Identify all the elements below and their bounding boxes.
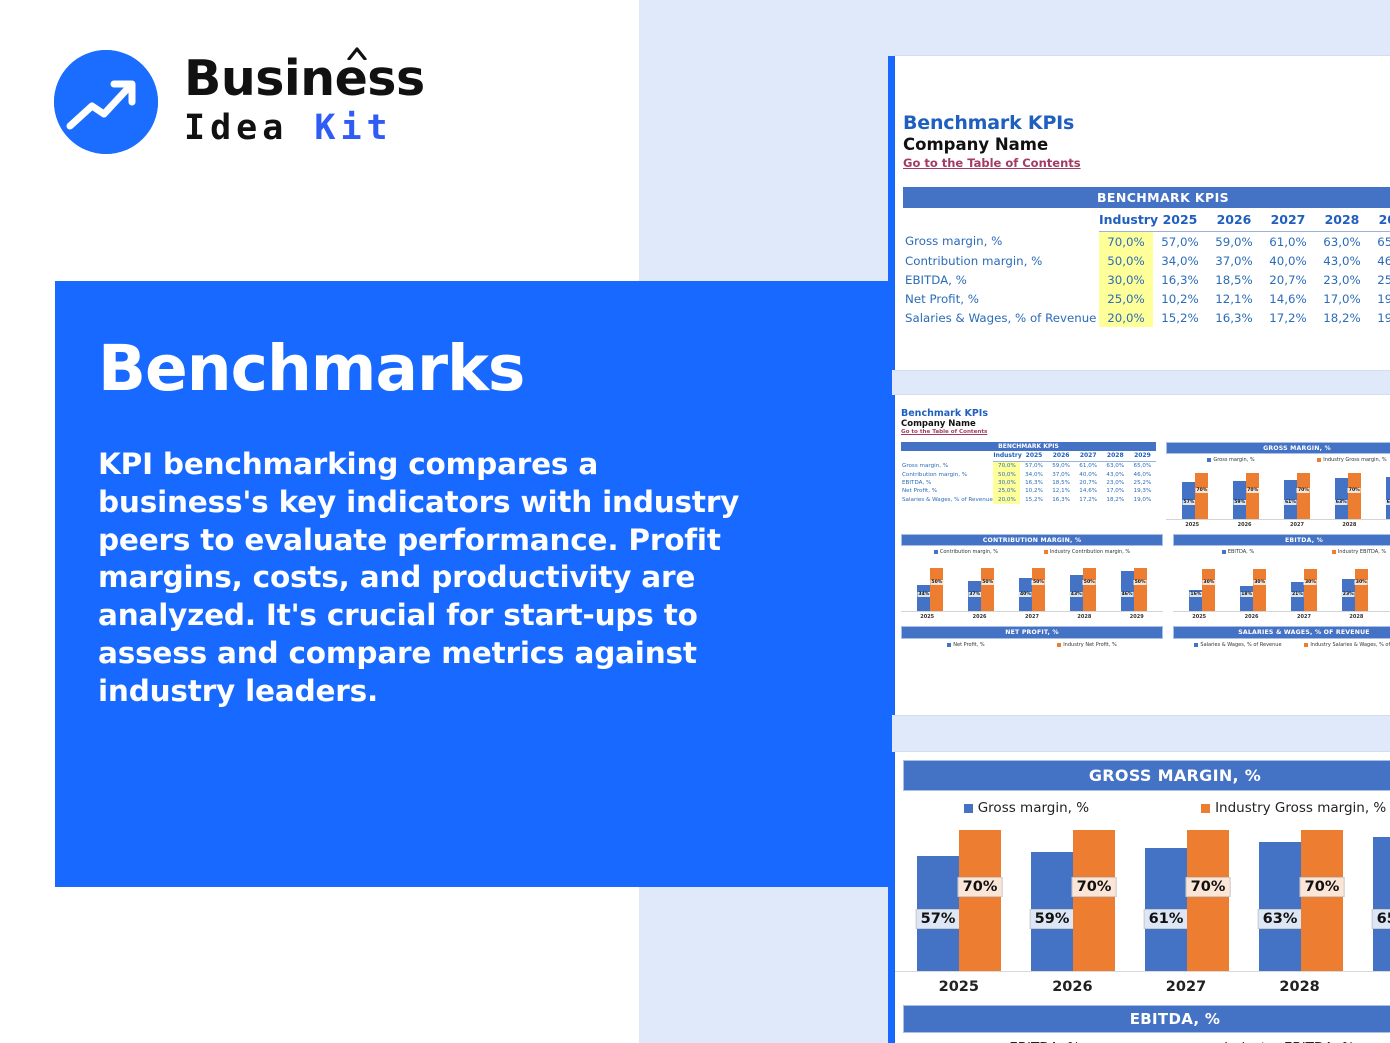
bar-company: 59% — [1233, 481, 1246, 519]
bar-group: 37%50% — [968, 559, 994, 611]
bar-company: 57% — [1182, 482, 1195, 519]
bar-group: 57%70% — [1182, 467, 1208, 519]
mini-col-header-2026: 2026 — [1048, 451, 1075, 462]
legend-swatch-orange — [1332, 550, 1336, 554]
bar-value-label: 61% — [1284, 500, 1297, 505]
bar-value-label: 50% — [930, 580, 943, 585]
cell-2028: 43,0% — [1102, 470, 1129, 478]
x-tick: 2027 — [1025, 614, 1039, 620]
cell-2028: 23,0% — [1315, 270, 1369, 289]
mini-chart-x-axis: 2025 2026 2027 2028 2029 — [901, 611, 1163, 620]
bar-group: 21%30% — [1291, 559, 1317, 611]
bar-value-label: 65% — [1386, 500, 1390, 505]
legend-item-industry: Industry Net Profit, % — [1057, 642, 1117, 648]
mini-chart-x-axis: 2025 2026 2027 2028 2029 — [1166, 519, 1390, 528]
bar-value-label: 59% — [1233, 500, 1246, 505]
legend-label: Industry Gross margin, % — [1323, 457, 1386, 463]
legend-label: Industry Gross margin, % — [1215, 800, 1386, 816]
x-tick: 2025 — [920, 614, 934, 620]
bar-value-label: 70% — [1297, 488, 1310, 493]
legend-swatch-blue — [1222, 550, 1226, 554]
cell-2029: 19,0% — [1369, 308, 1390, 327]
bar-value-label: 40% — [1019, 592, 1032, 597]
bar-industry: 70% — [1297, 473, 1310, 519]
mini-chart-ebitda[interactable]: EBITDA, % EBITDA, % Industry EBITDA, % 1… — [1173, 534, 1390, 620]
row-label: Gross margin, % — [901, 462, 993, 471]
mini-chart-net-profit[interactable]: NET PROFIT, % Net Profit, % Industry Net… — [901, 626, 1163, 647]
bar-value-label: 70% — [1348, 488, 1361, 493]
bar-company: 43% — [1070, 575, 1083, 611]
x-tick: 2028 — [1342, 522, 1356, 528]
kpi-table-banner-label: BENCHMARK KPIS — [903, 187, 1390, 209]
x-tick: 2029 — [1371, 979, 1390, 995]
x-tick: 2027 — [1290, 522, 1304, 528]
cell-2025: 34,0% — [1153, 251, 1207, 270]
slide-canvas: Business Idea Kit Benchmarks KPI benchma… — [0, 0, 1390, 1043]
legend-label: Industry Salaries & Wages, % of Revenue — [1310, 642, 1390, 648]
mini-col-header-2027: 2027 — [1075, 451, 1102, 462]
col-header-2028: 2028 — [1315, 209, 1369, 232]
cell-2029: 19,0% — [1129, 496, 1156, 504]
mini-table-header-row: Industry 2025 2026 2027 2028 2029 — [901, 451, 1156, 462]
legend-label: Net Profit, % — [953, 642, 984, 648]
mini-chart-title: NET PROFIT, % — [901, 626, 1163, 638]
legend-item-industry: Industry Gross margin, % — [1317, 457, 1386, 463]
brand-name-primary: Business — [184, 54, 425, 103]
cell-industry: 50,0% — [993, 470, 1020, 478]
mini-chart-plot: 34%50% 37%50% 40%50% 43%50% 46%50% — [901, 555, 1163, 611]
x-tick: 2029 — [1130, 614, 1144, 620]
cell-2029: 19,3% — [1369, 289, 1390, 308]
bar-company: 46% — [1121, 571, 1134, 611]
cell-2025: 15,2% — [1153, 308, 1207, 327]
cell-2026: 16,3% — [1207, 308, 1261, 327]
cell-industry: 25,0% — [993, 487, 1020, 495]
cell-industry: 30,0% — [1099, 270, 1153, 289]
bar-value-label: 50% — [1032, 580, 1045, 585]
legend-item-company: Net Profit, % — [947, 642, 984, 648]
bar-company: 21% — [1291, 582, 1304, 611]
large-chart-x-axis: 2025 2026 2027 2028 2029 — [895, 971, 1390, 995]
sheet-subtitle: Company Name — [903, 135, 1390, 154]
bar-company: 65% — [1386, 477, 1390, 519]
legend-swatch-orange — [1044, 550, 1048, 554]
cell-2027: 40,0% — [1075, 470, 1102, 478]
bar-value-label: 70% — [1246, 488, 1259, 493]
cell-2028: 18,2% — [1102, 496, 1129, 504]
cell-2029: 46,0% — [1129, 470, 1156, 478]
bar-company: 16% — [1189, 590, 1202, 612]
bar-group: 43%50% — [1070, 559, 1096, 611]
cell-2025: 57,0% — [1020, 462, 1047, 471]
brand-name-idea: Idea — [184, 108, 288, 148]
growth-arrow-icon — [54, 50, 158, 154]
bar-group: 34%50% — [917, 559, 943, 611]
bar-value-label: 70% — [1072, 877, 1117, 897]
sheet-title: Benchmark KPIs — [903, 112, 1390, 134]
row-label: Net Profit, % — [903, 289, 1099, 308]
kpi-table-header-row: Industry 2025 2026 2027 2028 2029 — [903, 209, 1390, 232]
legend-item-company: Salaries & Wages, % of Revenue — [1194, 642, 1281, 648]
bar-value-label: 30% — [1253, 580, 1266, 585]
bar-group: 61% 70% — [1145, 824, 1229, 971]
legend-item-company: Gross margin, % — [1207, 457, 1254, 463]
cell-2026: 37,0% — [1207, 251, 1261, 270]
cell-2025: 16,3% — [1020, 479, 1047, 487]
mini-col-header-2028: 2028 — [1102, 451, 1129, 462]
bar-company: 63% — [1335, 478, 1348, 519]
large-chart-legend-ebitda: EBITDA, % Industry EBITDA, % — [895, 1033, 1390, 1043]
mini-col-header-industry: Industry — [993, 451, 1020, 462]
cell-2028: 18,2% — [1315, 308, 1369, 327]
row-label: Contribution margin, % — [901, 470, 993, 478]
mini-chart-legend: Salaries & Wages, % of Revenue Industry … — [1173, 639, 1390, 648]
table-row[interactable]: Net Profit, % 25,0% 10,2% 12,1% 14,6% 17… — [901, 487, 1156, 495]
brand-name-primary-text: Business — [184, 50, 425, 107]
x-tick: 2026 — [973, 614, 987, 620]
bar-value-label: 65% — [1372, 909, 1390, 929]
col-header-blank — [903, 209, 1099, 232]
cell-2029: 65,0% — [1369, 232, 1390, 252]
mini-table-banner: BENCHMARK KPIS — [901, 442, 1156, 451]
mini-col-header-2029: 2029 — [1129, 451, 1156, 462]
mini-sheet-subtitle: Company Name — [901, 419, 1390, 429]
bar-company: 61% — [1145, 848, 1187, 971]
cell-industry: 20,0% — [1099, 308, 1153, 327]
legend-swatch-orange — [1304, 643, 1308, 647]
mini-chart-contribution-margin[interactable]: CONTRIBUTION MARGIN, % Contribution marg… — [901, 534, 1163, 620]
cell-2026: 59,0% — [1207, 232, 1261, 252]
cell-industry: 20,0% — [993, 496, 1020, 504]
legend-label: Contribution margin, % — [940, 549, 998, 555]
x-tick: 2026 — [1238, 522, 1252, 528]
legend-label: Industry Net Profit, % — [1063, 642, 1117, 648]
page-title: Benchmarks — [98, 337, 832, 400]
cell-2026: 12,1% — [1207, 289, 1261, 308]
bar-group: 18%30% — [1240, 559, 1266, 611]
cell-2028: 23,0% — [1102, 479, 1129, 487]
spreadsheet-panel-dashboard[interactable]: Benchmark KPIs Company Name Go to the Ta… — [895, 395, 1390, 715]
large-chart-title-ebitda: EBITDA, % — [903, 1005, 1390, 1033]
bar-company: 65% — [1373, 837, 1390, 971]
cell-2026: 59,0% — [1048, 462, 1075, 471]
mini-table-of-contents-link[interactable]: Go to the Table of Contents — [901, 429, 1390, 435]
cell-2029: 25,2% — [1129, 479, 1156, 487]
cell-2029: 46,0% — [1369, 251, 1390, 270]
brand-name-secondary: Idea Kit — [184, 107, 425, 151]
row-label: Gross margin, % — [903, 232, 1099, 252]
bar-group: 63% 70% — [1259, 824, 1343, 971]
cell-2025: 57,0% — [1153, 232, 1207, 252]
table-row[interactable]: Gross margin, % 70,0% 57,0% 59,0% 61,0% … — [903, 232, 1390, 252]
x-tick: 2026 — [1245, 614, 1259, 620]
legend-item-industry: Industry Contribution margin, % — [1044, 549, 1130, 555]
cell-2026: 16,3% — [1048, 496, 1075, 504]
cell-industry: 50,0% — [1099, 251, 1153, 270]
large-chart-plot: 57% 70% 59% 70% 61% 70% 63% 70% 65% 70% — [895, 816, 1390, 971]
bar-industry: 50% — [981, 568, 994, 612]
large-chart-legend: Gross margin, % Industry Gross margin, % — [895, 791, 1390, 816]
bar-group: 40%50% — [1019, 559, 1045, 611]
legend-label: Industry Contribution margin, % — [1050, 549, 1130, 555]
bar-value-label: 23% — [1342, 592, 1355, 597]
bar-value-label: 43% — [1070, 592, 1083, 597]
table-row[interactable]: Net Profit, % 25,0% 10,2% 12,1% 14,6% 17… — [903, 289, 1390, 308]
legend-item-company: Gross margin, % — [964, 800, 1089, 816]
legend-item-company: EBITDA, % — [1222, 549, 1254, 555]
bar-group: 16%30% — [1189, 559, 1215, 611]
bar-value-label: 57% — [1182, 500, 1195, 505]
cell-2028: 43,0% — [1315, 251, 1369, 270]
mini-chart-plot: 57%70% 59%70% 61%70% 63%70% 65%70% — [1166, 463, 1390, 519]
brand-logo: Business Idea Kit — [54, 50, 425, 154]
hero-description: KPI benchmarking compares a business's k… — [98, 446, 778, 710]
mini-chart-title: CONTRIBUTION MARGIN, % — [901, 534, 1163, 546]
cell-2026: 12,1% — [1048, 487, 1075, 495]
table-row[interactable]: EBITDA, % 30,0% 16,3% 18,5% 20,7% 23,0% … — [903, 270, 1390, 289]
bar-group: 63%70% — [1335, 467, 1361, 519]
bar-company: 40% — [1019, 578, 1032, 611]
bar-industry: 70% — [1073, 830, 1115, 971]
bar-company: 18% — [1240, 586, 1253, 611]
cell-2026: 37,0% — [1048, 470, 1075, 478]
cell-2028: 17,0% — [1315, 289, 1369, 308]
bar-industry: 50% — [1083, 568, 1096, 612]
table-row[interactable]: Salaries & Wages, % of Revenue 20,0% 15,… — [903, 308, 1390, 327]
cell-industry: 30,0% — [993, 479, 1020, 487]
spreadsheet-panel-kpi-table[interactable]: Benchmark KPIs Company Name Go to the Ta… — [895, 56, 1390, 370]
x-tick: 2025 — [1192, 614, 1206, 620]
x-tick: 2028 — [1258, 979, 1342, 995]
bar-value-label: 30% — [1202, 580, 1215, 585]
x-tick: 2026 — [1031, 979, 1115, 995]
legend-swatch-blue — [964, 804, 973, 813]
bar-industry: 50% — [930, 568, 943, 612]
cell-2025: 10,2% — [1020, 487, 1047, 495]
bar-group: 65% 70% — [1373, 824, 1390, 971]
bar-company: 23% — [1342, 579, 1355, 612]
cell-2025: 10,2% — [1153, 289, 1207, 308]
bar-group: 59%70% — [1233, 467, 1259, 519]
bar-industry: 50% — [1134, 568, 1147, 612]
col-header-2025: 2025 — [1153, 209, 1207, 232]
legend-swatch-blue — [947, 643, 951, 647]
bar-industry: 70% — [1246, 473, 1259, 519]
bar-value-label: 16% — [1189, 592, 1202, 597]
bar-value-label: 30% — [1355, 580, 1368, 585]
cell-2027: 40,0% — [1261, 251, 1315, 270]
cell-industry: 70,0% — [1099, 232, 1153, 252]
bar-value-label: 63% — [1335, 500, 1348, 505]
circumflex-accent-icon — [347, 47, 367, 60]
x-tick: 2025 — [917, 979, 1001, 995]
bar-value-label: 57% — [916, 909, 961, 929]
legend-item-company: Contribution margin, % — [934, 549, 998, 555]
mini-chart-title: EBITDA, % — [1173, 534, 1390, 546]
col-header-2026: 2026 — [1207, 209, 1261, 232]
legend-swatch-blue — [1194, 643, 1198, 647]
bar-value-label: 70% — [1300, 877, 1345, 897]
panel-1-edge-tab — [888, 56, 895, 370]
cell-2029: 65,0% — [1129, 462, 1156, 471]
bar-industry: 70% — [1348, 473, 1361, 519]
bar-company: 57% — [917, 856, 959, 971]
legend-item-industry: Industry EBITDA, % — [1332, 549, 1386, 555]
legend-label: Gross margin, % — [1213, 457, 1254, 463]
bar-value-label: 18% — [1240, 592, 1253, 597]
cell-2027: 61,0% — [1075, 462, 1102, 471]
legend-swatch-blue — [1207, 458, 1211, 462]
table-row[interactable]: EBITDA, % 30,0% 16,3% 18,5% 20,7% 23,0% … — [901, 479, 1156, 487]
legend-label: Gross margin, % — [978, 800, 1089, 816]
mini-chart-legend: EBITDA, % Industry EBITDA, % — [1173, 546, 1390, 555]
mini-kpi-table[interactable]: BENCHMARK KPIS Industry 2025 2026 2027 2… — [901, 442, 1156, 504]
row-label: Net Profit, % — [901, 487, 993, 495]
row-label: Salaries & Wages, % of Revenue — [903, 308, 1099, 327]
bar-group: 23%30% — [1342, 559, 1368, 611]
bar-value-label: 63% — [1258, 909, 1303, 929]
mini-chart-plot: 16%30% 18%30% 21%30% 23%30% 25%30% — [1173, 555, 1390, 611]
bar-value-label: 70% — [958, 877, 1003, 897]
mini-col-header-2025: 2025 — [1020, 451, 1047, 462]
row-label: EBITDA, % — [901, 479, 993, 487]
bar-company: 34% — [917, 585, 930, 611]
bar-group: 46%50% — [1121, 559, 1147, 611]
bar-value-label: 34% — [917, 592, 930, 597]
bar-group: 61%70% — [1284, 467, 1310, 519]
legend-swatch-blue — [934, 550, 938, 554]
mini-col-header-blank — [901, 451, 993, 462]
panel-2-edge-tab — [888, 395, 895, 715]
cell-2027: 17,2% — [1261, 308, 1315, 327]
hero-panel: Benchmarks KPI benchmarking compares a b… — [55, 281, 892, 887]
bar-company: 59% — [1031, 852, 1073, 971]
bar-group: 57% 70% — [917, 824, 1001, 971]
bar-value-label: 70% — [1195, 488, 1208, 493]
bar-value-label: 37% — [968, 592, 981, 597]
x-tick: 2025 — [1185, 522, 1199, 528]
kpi-table[interactable]: BENCHMARK KPIS Industry 2025 2026 2027 2… — [903, 187, 1390, 327]
cell-2026: 18,5% — [1048, 479, 1075, 487]
cell-2027: 20,7% — [1075, 479, 1102, 487]
spreadsheet-panel-large-chart[interactable]: GROSS MARGIN, % Gross margin, % Industry… — [895, 752, 1390, 1043]
row-label: Contribution margin, % — [903, 251, 1099, 270]
mini-chart-title: SALARIES & WAGES, % OF REVENUE — [1173, 626, 1390, 638]
legend-swatch-orange — [1057, 643, 1061, 647]
table-of-contents-link[interactable]: Go to the Table of Contents — [903, 156, 1390, 170]
bar-industry: 70% — [1187, 830, 1229, 971]
mini-dashboard-grid: BENCHMARK KPIS Industry 2025 2026 2027 2… — [901, 442, 1390, 648]
mini-chart-salaries-wages[interactable]: SALARIES & WAGES, % OF REVENUE Salaries … — [1173, 626, 1390, 647]
kpi-table-banner: BENCHMARK KPIS — [903, 187, 1390, 209]
panel-3-edge-tab — [888, 752, 895, 1043]
row-label: EBITDA, % — [903, 270, 1099, 289]
legend-swatch-orange — [1201, 804, 1210, 813]
table-row[interactable]: Contribution margin, % 50,0% 34,0% 37,0%… — [901, 470, 1156, 478]
legend-label: Industry EBITDA, % — [1338, 549, 1386, 555]
bar-value-label: 61% — [1144, 909, 1189, 929]
cell-2027: 61,0% — [1261, 232, 1315, 252]
cell-2025: 16,3% — [1153, 270, 1207, 289]
bar-industry: 30% — [1202, 569, 1215, 612]
bar-value-label: 46% — [1121, 592, 1134, 597]
bar-industry: 70% — [959, 830, 1001, 971]
bar-group: 65%70% — [1386, 467, 1390, 519]
col-header-2029: 2029 — [1369, 209, 1390, 232]
col-header-2027: 2027 — [1261, 209, 1315, 232]
bar-industry: 70% — [1195, 473, 1208, 519]
bar-company: 63% — [1259, 842, 1301, 971]
brand-name-kit: Kit — [314, 108, 392, 148]
x-tick: 2027 — [1297, 614, 1311, 620]
legend-label: EBITDA, % — [1228, 549, 1254, 555]
x-tick: 2027 — [1144, 979, 1228, 995]
large-chart-title: GROSS MARGIN, % — [903, 760, 1390, 791]
mini-chart-x-axis: 2025 2026 2027 2028 2029 — [1173, 611, 1390, 620]
cell-2026: 18,5% — [1207, 270, 1261, 289]
cell-2027: 14,6% — [1261, 289, 1315, 308]
x-tick: 2028 — [1077, 614, 1091, 620]
cell-2029: 25,2% — [1369, 270, 1390, 289]
cell-2027: 14,6% — [1075, 487, 1102, 495]
bar-industry: 50% — [1032, 568, 1045, 612]
row-label: Salaries & Wages, % of Revenue — [901, 496, 993, 504]
mini-chart-legend: Net Profit, % Industry Net Profit, % — [901, 639, 1163, 648]
x-tick: 2028 — [1349, 614, 1363, 620]
cell-2028: 63,0% — [1315, 232, 1369, 252]
cell-2027: 20,7% — [1261, 270, 1315, 289]
table-row[interactable]: Gross margin, % 70,0% 57,0% 59,0% 61,0% … — [901, 462, 1156, 471]
mini-table-banner-label: BENCHMARK KPIS — [901, 442, 1156, 451]
legend-label: Salaries & Wages, % of Revenue — [1200, 642, 1281, 648]
bar-value-label: 59% — [1030, 909, 1075, 929]
legend-swatch-orange — [1317, 458, 1321, 462]
mini-chart-legend: Contribution margin, % Industry Contribu… — [901, 546, 1163, 555]
bar-industry: 70% — [1301, 830, 1343, 971]
bar-value-label: 30% — [1304, 580, 1317, 585]
legend-item-industry: Industry Gross margin, % — [1201, 800, 1386, 816]
bar-company: 37% — [968, 581, 981, 611]
col-header-industry: Industry — [1099, 209, 1153, 232]
cell-2025: 34,0% — [1020, 470, 1047, 478]
cell-2029: 19,3% — [1129, 487, 1156, 495]
cell-2027: 17,2% — [1075, 496, 1102, 504]
table-row[interactable]: Contribution margin, % 50,0% 34,0% 37,0%… — [903, 251, 1390, 270]
mini-chart-title: GROSS MARGIN, % — [1166, 442, 1390, 454]
cell-2025: 15,2% — [1020, 496, 1047, 504]
cell-2028: 17,0% — [1102, 487, 1129, 495]
bar-value-label: 70% — [1186, 877, 1231, 897]
mini-chart-gross-margin[interactable]: GROSS MARGIN, % Gross margin, % Industry… — [1166, 442, 1390, 528]
bar-industry: 30% — [1355, 569, 1368, 612]
mini-sheet-title: Benchmark KPIs — [901, 408, 1390, 419]
legend-item-industry: Industry Salaries & Wages, % of Revenue — [1304, 642, 1390, 648]
table-row[interactable]: Salaries & Wages, % of Revenue 20,0% 15,… — [901, 496, 1156, 504]
mini-chart-legend: Gross margin, % Industry Gross margin, % — [1166, 454, 1390, 463]
cell-industry: 25,0% — [1099, 289, 1153, 308]
cell-2028: 63,0% — [1102, 462, 1129, 471]
cell-industry: 70,0% — [993, 462, 1020, 471]
bar-value-label: 50% — [1134, 580, 1147, 585]
bar-value-label: 50% — [1083, 580, 1096, 585]
bar-group: 59% 70% — [1031, 824, 1115, 971]
bar-company: 61% — [1284, 480, 1297, 520]
bar-industry: 30% — [1304, 569, 1317, 612]
bar-value-label: 21% — [1291, 592, 1304, 597]
bar-value-label: 50% — [981, 580, 994, 585]
bar-industry: 30% — [1253, 569, 1266, 612]
